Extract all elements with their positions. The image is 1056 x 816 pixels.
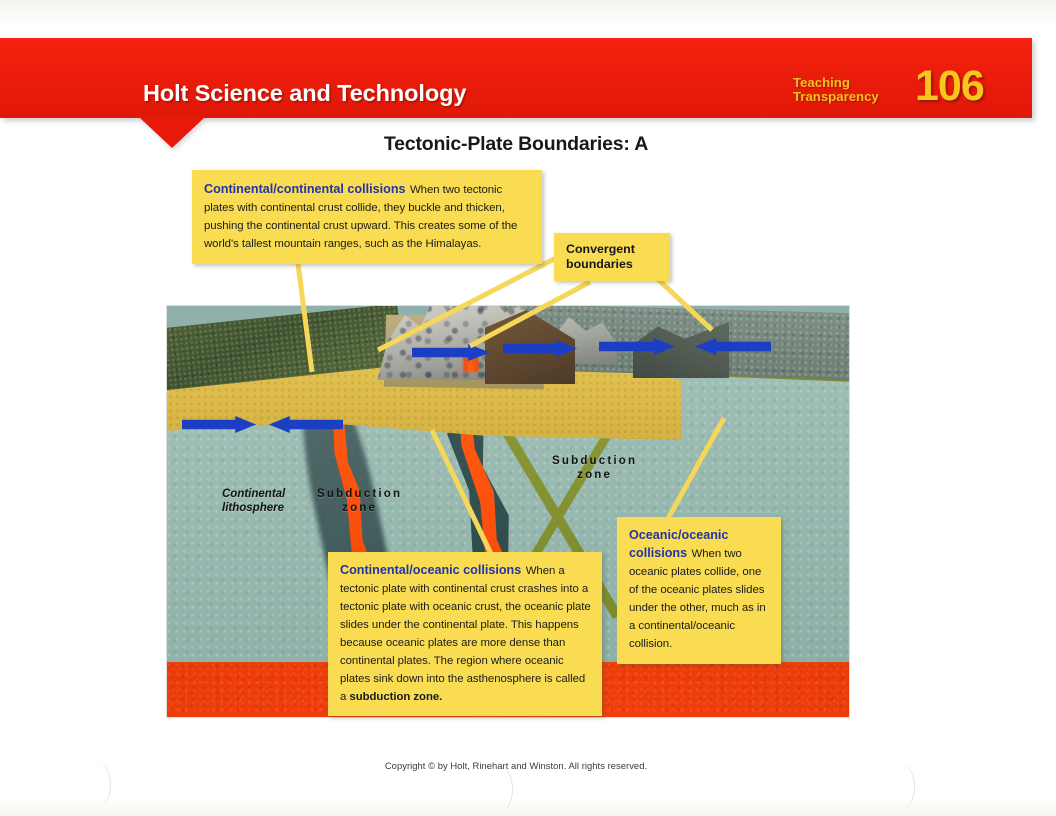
label-subduction-zone-1: Subduction zone [317, 487, 402, 515]
label-subduction-zone-1-line2: zone [317, 501, 402, 515]
callout-convergent-line1: Convergent [566, 242, 660, 257]
label-continental-lithosphere: Continental lithosphere [222, 487, 285, 515]
callout-oceanic-oceanic: Oceanic/oceanic collisions When two ocea… [617, 517, 781, 664]
callout-continental-continental-heading: Continental/continental collisions [204, 182, 406, 196]
copyright-notice: Copyright © by Holt, Rinehart and Winsto… [0, 760, 1032, 771]
callout-continental-oceanic-heading: Continental/oceanic collisions [340, 563, 521, 577]
label-continental-lithosphere-line1: Continental [222, 487, 285, 501]
teaching-transparency-label: Teaching Transparency [793, 76, 879, 103]
transparency-number: 106 [915, 62, 984, 111]
callout-oceanic-oceanic-body: When two oceanic plates collide, one of … [629, 548, 766, 650]
label-continental-lithosphere-line2: lithosphere [222, 501, 285, 515]
callout-continental-continental: Continental/continental collisions When … [192, 170, 542, 264]
label-subduction-zone-2-line1: Subduction [552, 454, 637, 468]
page-title: Tectonic-Plate Boundaries: A [0, 133, 1032, 156]
label-subduction-zone-2-line2: zone [552, 468, 637, 482]
label-subduction-zone-1-line1: Subduction [317, 487, 402, 501]
teaching-transparency-label-line1: Teaching [793, 76, 879, 90]
brand-title: Holt Science and Technology [143, 80, 466, 107]
callout-continental-oceanic: Continental/oceanic collisions When a te… [328, 552, 602, 716]
teaching-transparency-label-line2: Transparency [793, 90, 879, 104]
callout-continental-oceanic-body-part1: When a tectonic plate with continental c… [340, 565, 591, 703]
callout-continental-oceanic-body-bold: subduction zone. [349, 691, 442, 703]
callout-convergent-boundaries: Convergent boundaries [554, 233, 670, 281]
label-subduction-zone-2: Subduction zone [552, 454, 637, 482]
callout-convergent-line2: boundaries [566, 257, 660, 272]
